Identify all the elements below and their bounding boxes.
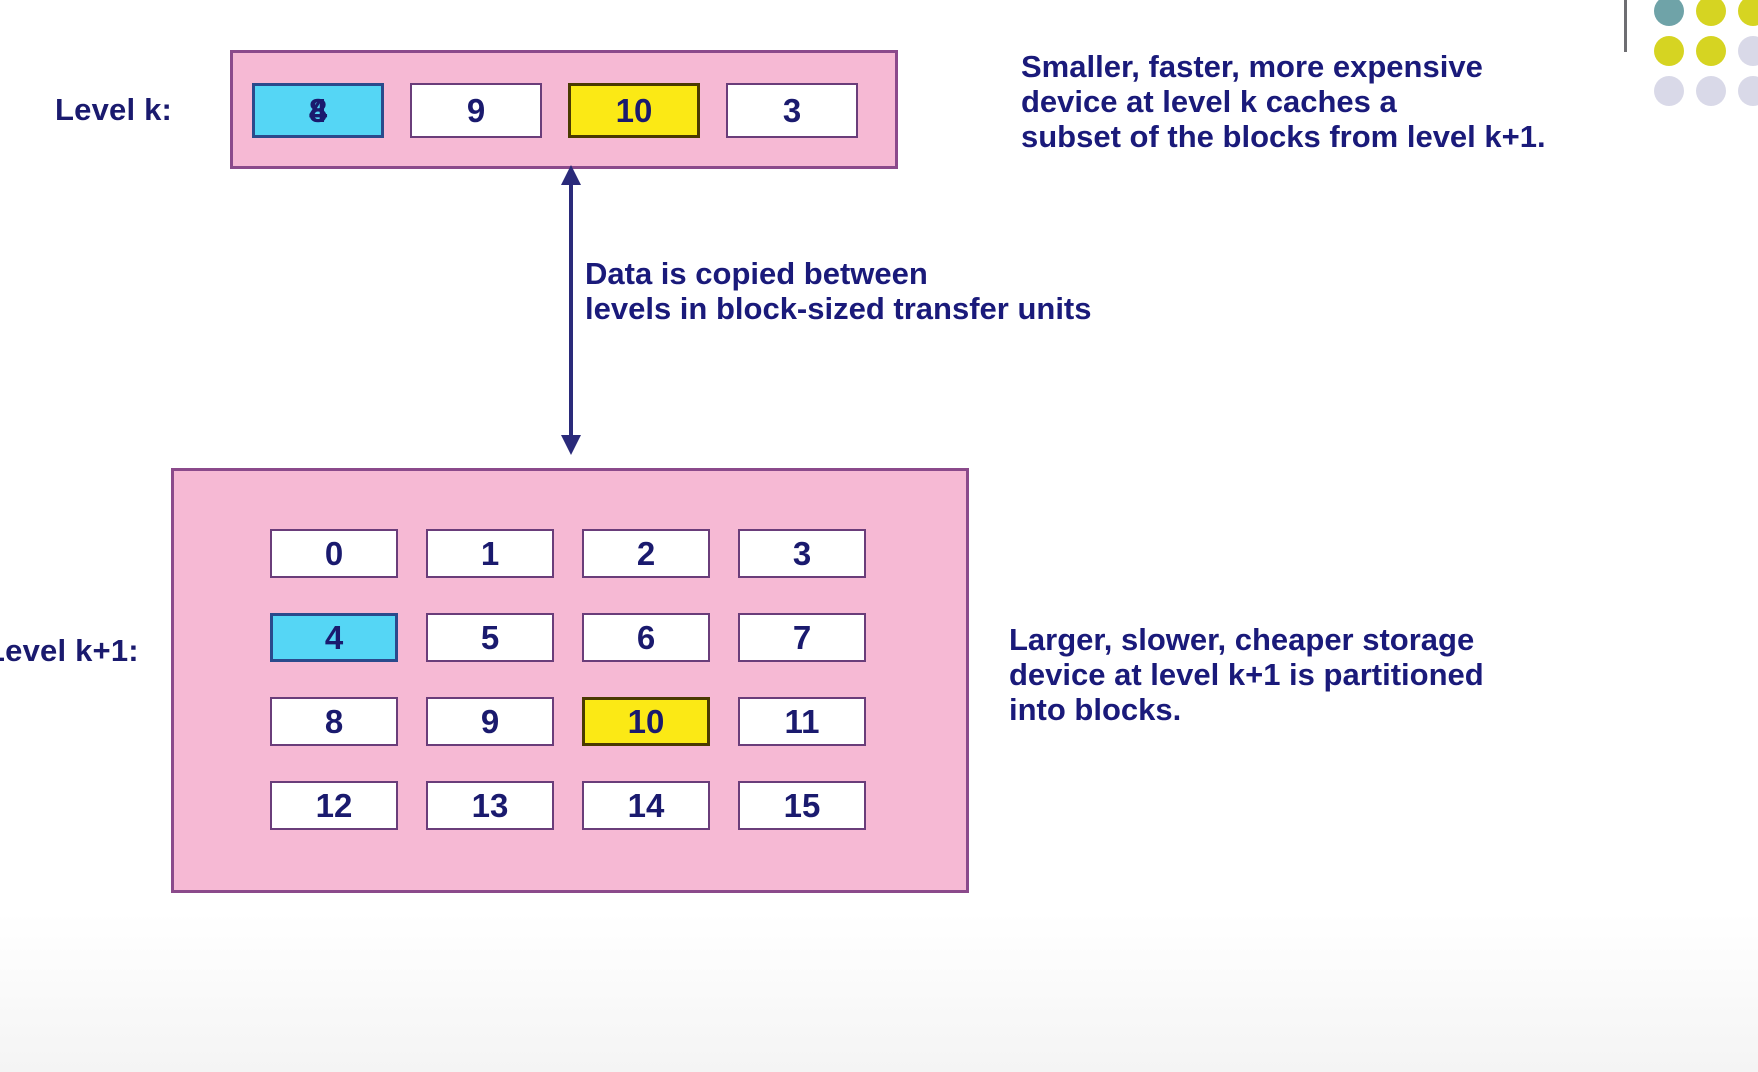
bottom-right-note-line-3: into blocks. [1009,692,1484,727]
memory-block-13[interactable]: 13 [426,781,554,830]
cache-block-10[interactable]: 10 [568,83,700,138]
bottom-right-note-line-1: Larger, slower, cheaper storage [1009,622,1484,657]
memory-block-0[interactable]: 0 [270,529,398,578]
transfer-note-line-1: Data is copied between [585,256,1092,291]
decorative-dot-lavender [1738,36,1758,66]
memory-block-11[interactable]: 11 [738,697,866,746]
data-transfer-arrow [554,165,588,455]
memory-block-3[interactable]: 3 [738,529,866,578]
memory-block-12[interactable]: 12 [270,781,398,830]
double-headed-arrow-icon [554,165,588,455]
cache-block-8[interactable]: 84 [252,83,384,138]
memory-block-8[interactable]: 8 [270,697,398,746]
decorative-dot-yellow [1738,0,1758,26]
memory-block-15[interactable]: 15 [738,781,866,830]
decorative-dot-lavender [1696,76,1726,106]
memory-block-5[interactable]: 5 [426,613,554,662]
decorative-dot-yellow [1654,36,1684,66]
bottom-right-note-line-2: device at level k+1 is partitioned [1009,657,1484,692]
cache-block-3[interactable]: 3 [726,83,858,138]
decorative-dot-yellow [1696,0,1726,26]
transfer-note: Data is copied between levels in block-s… [585,256,1092,326]
memory-block-7[interactable]: 7 [738,613,866,662]
memory-block-14[interactable]: 14 [582,781,710,830]
transfer-note-line-2: levels in block-sized transfer units [585,291,1092,326]
top-right-note-line-2: device at level k caches a [1021,84,1546,119]
decorative-vertical-rule [1624,0,1627,52]
top-right-note-line-3: subset of the blocks from level k+1. [1021,119,1546,154]
memory-block-1[interactable]: 1 [426,529,554,578]
cache-block-9[interactable]: 9 [410,83,542,138]
memory-block-6[interactable]: 6 [582,613,710,662]
level-k-plus-1-label: Level k+1: [0,633,139,669]
memory-block-10[interactable]: 10 [582,697,710,746]
top-right-note-line-1: Smaller, faster, more expensive [1021,49,1546,84]
memory-block-4[interactable]: 4 [270,613,398,662]
decorative-dot-lavender [1738,76,1758,106]
cache-block-overlap-digit: 4 [309,92,327,130]
slide-bottom-gradient [0,912,1758,1072]
decorative-dot-teal [1654,0,1684,26]
level-k-label: Level k: [55,92,172,128]
memory-block-2[interactable]: 2 [582,529,710,578]
memory-block-9[interactable]: 9 [426,697,554,746]
slide-canvas: Level k: 849103 Data is copied between l… [0,0,1758,1072]
decorative-dot-grid [1654,0,1758,116]
bottom-right-note: Larger, slower, cheaper storage device a… [1009,622,1484,727]
top-right-note: Smaller, faster, more expensive device a… [1021,49,1546,154]
decorative-dot-yellow [1696,36,1726,66]
decorative-dot-lavender [1654,76,1684,106]
